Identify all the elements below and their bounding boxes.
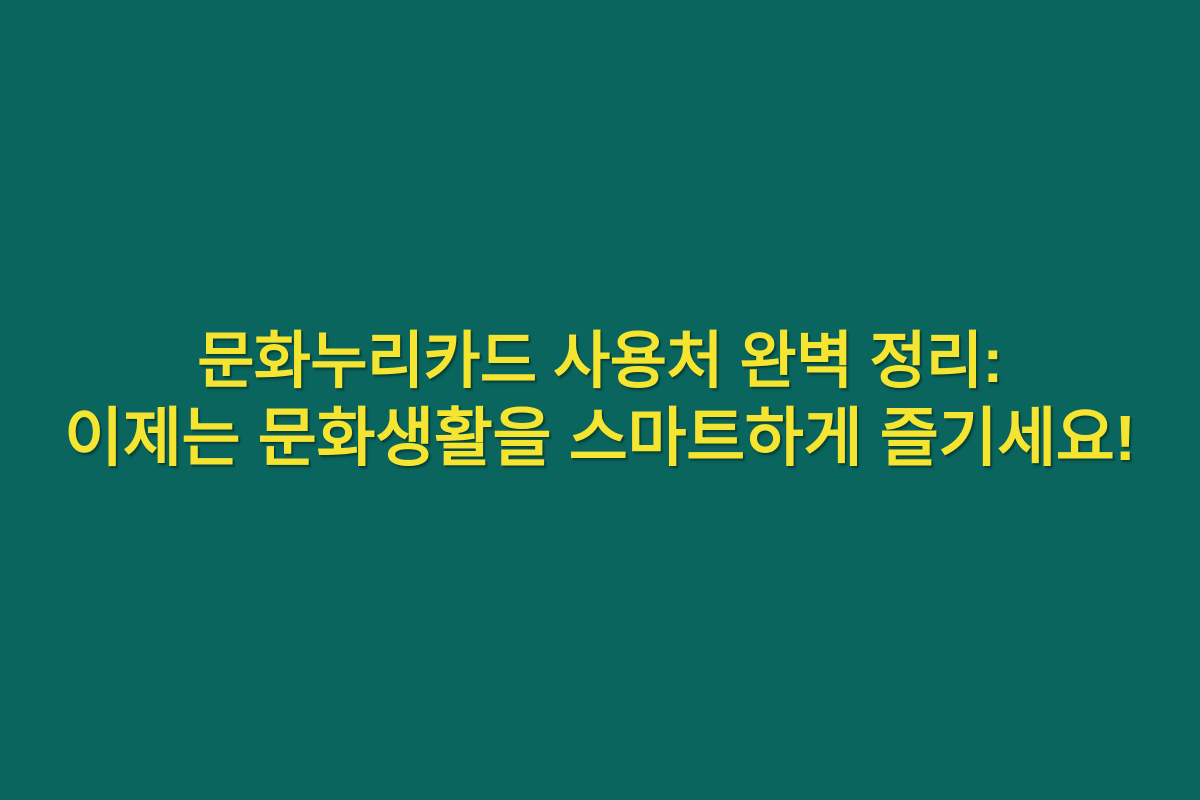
headline-line-1: 문화누리카드 사용처 완벽 정리: [20, 324, 1180, 400]
title-banner: 문화누리카드 사용처 완벽 정리: 이제는 문화생활을 스마트하게 즐기세요! [0, 0, 1200, 800]
headline-block: 문화누리카드 사용처 완벽 정리: 이제는 문화생활을 스마트하게 즐기세요! [0, 324, 1200, 476]
headline-line-2: 이제는 문화생활을 스마트하게 즐기세요! [20, 400, 1180, 476]
